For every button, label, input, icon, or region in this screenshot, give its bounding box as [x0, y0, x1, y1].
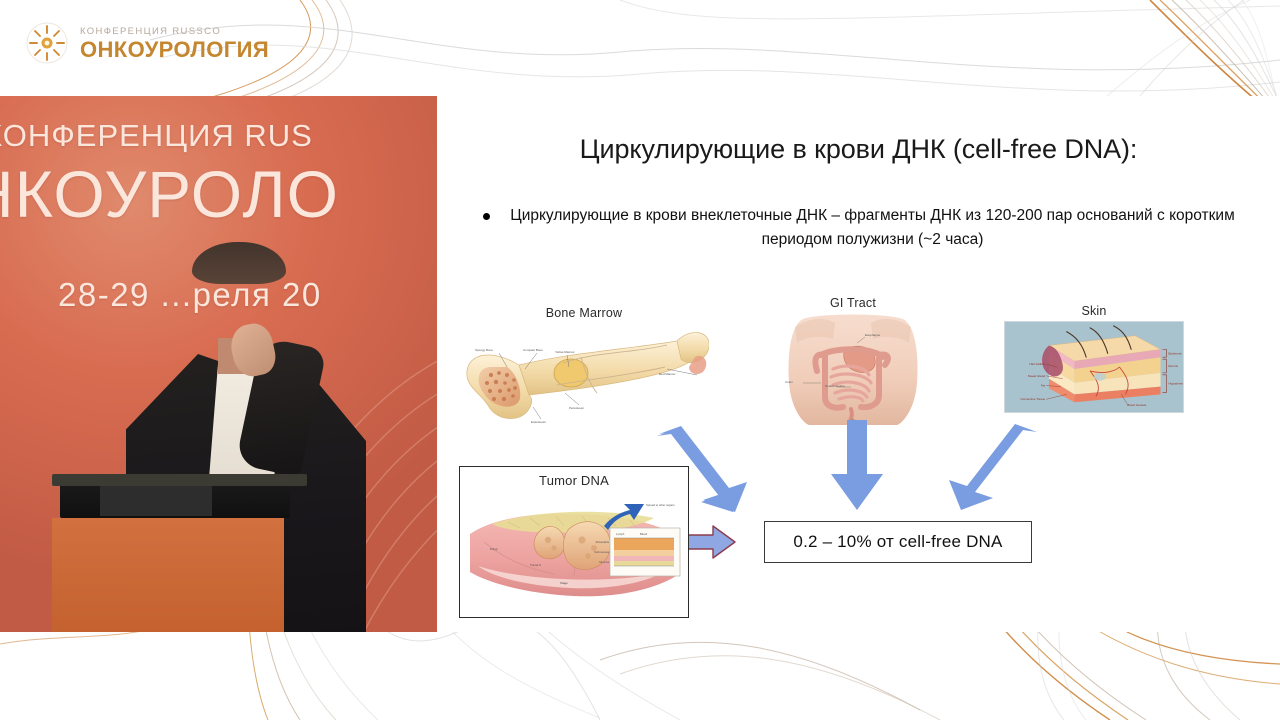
podium-top-edge [52, 474, 307, 486]
figure-gi-tract: GI Tract [773, 296, 933, 425]
laptop [60, 482, 290, 518]
svg-text:Blood: Blood [640, 532, 648, 536]
skin-illustration: Epidermis Dermis Hypodermis Blood Vessel… [1004, 321, 1184, 413]
figure-skin: Skin [1004, 304, 1184, 413]
svg-text:Lymph: Lymph [616, 532, 625, 536]
svg-text:Periosteum: Periosteum [569, 406, 585, 410]
slide-viewer: КОНФЕРЕНЦИЯ RUSSCO ОНКОУРОЛОГИЯ КОНФЕРЕН… [0, 0, 1280, 720]
svg-text:Polyp: Polyp [490, 547, 498, 551]
svg-text:Dermis: Dermis [1168, 364, 1178, 368]
backdrop-line-2: НКОУРОЛО [0, 156, 339, 232]
arrow-skin-to-result-icon [949, 424, 1041, 512]
svg-text:Mucosa: Mucosa [599, 560, 609, 564]
logo-title: ОНКОУРОЛОГИЯ [80, 39, 269, 61]
figure-caption: Skin [1004, 304, 1184, 318]
speaker-hair [192, 242, 286, 284]
svg-text:Epidermis: Epidermis [1168, 351, 1182, 355]
podium [52, 474, 307, 632]
svg-text:Colon: Colon [785, 380, 793, 384]
bullet-item-text: Циркулирующие в крови внеклеточные ДНК –… [502, 204, 1243, 252]
tumor-dna-illustration: Lymph Blood Spread to other organs Muscu… [464, 490, 684, 608]
svg-text:Hypodermis: Hypodermis [1168, 382, 1183, 386]
result-box: 0.2 – 10% от cell-free DNA [764, 521, 1032, 563]
result-text: 0.2 – 10% от cell-free DNA [793, 532, 1002, 552]
podium-body [52, 518, 284, 632]
speaker-video[interactable]: КОНФЕРЕНЦИЯ RUS НКОУРОЛО 28-29 ...реля 2… [0, 96, 437, 632]
svg-text:Fat: Fat [1041, 384, 1046, 388]
logo-text: КОНФЕРЕНЦИЯ RUSSCO ОНКОУРОЛОГИЯ [80, 26, 269, 61]
gi-tract-illustration: Esophagus Colon Small Intestine Rectum [773, 313, 933, 425]
bullet-dot-icon [483, 213, 490, 220]
svg-text:Red Marrow: Red Marrow [659, 372, 676, 376]
svg-text:Connective Tissue: Connective Tissue [1020, 397, 1045, 401]
svg-text:Blood Vessels: Blood Vessels [1127, 403, 1146, 407]
svg-text:Muscularis: Muscularis [596, 540, 610, 544]
starburst-sun-icon [26, 22, 68, 64]
svg-text:Sweat Gland: Sweat Gland [1028, 374, 1046, 378]
svg-text:Compact Bone: Compact Bone [523, 348, 543, 352]
figure-caption: GI Tract [773, 296, 933, 310]
svg-text:Yellow Marrow: Yellow Marrow [555, 350, 575, 354]
svg-text:Small Intestine: Small Intestine [825, 384, 845, 388]
figure-caption: Tumor DNA [464, 473, 684, 488]
svg-text:Endosteum: Endosteum [531, 420, 547, 424]
figure-caption: Bone Marrow [459, 306, 709, 320]
backdrop-line-1: КОНФЕРЕНЦИЯ RUS [0, 118, 313, 154]
bone-marrow-illustration: Spongy Bone Compact Bone Yellow Marrow R… [459, 323, 709, 439]
svg-text:Spread to other organs: Spread to other organs [646, 503, 675, 507]
bullet-list: Циркулирующие в крови внеклеточные ДНК –… [483, 204, 1243, 252]
conference-logo: КОНФЕРЕНЦИЯ RUSSCO ОНКОУРОЛОГИЯ [26, 22, 269, 64]
figure-tumor-dna: Tumor DNA [459, 466, 689, 618]
svg-text:Submucosa: Submucosa [594, 550, 609, 554]
svg-text:Stage: Stage [560, 581, 568, 585]
figure-bone-marrow: Bone Marrow [459, 306, 709, 439]
svg-text:Tumor II: Tumor II [530, 563, 541, 567]
logo-kicker: КОНФЕРЕНЦИЯ RUSSCO [80, 26, 269, 37]
slide-title: Циркулирующие в крови ДНК (cell-free DNA… [437, 134, 1280, 165]
arrow-gi-to-result-icon [829, 420, 885, 510]
presentation-slide: Циркулирующие в крови ДНК (cell-free DNA… [437, 96, 1280, 632]
svg-text:Spongy Bone: Spongy Bone [475, 348, 493, 352]
svg-text:Esophagus: Esophagus [865, 333, 881, 337]
svg-text:Hair Follicle: Hair Follicle [1029, 362, 1045, 366]
